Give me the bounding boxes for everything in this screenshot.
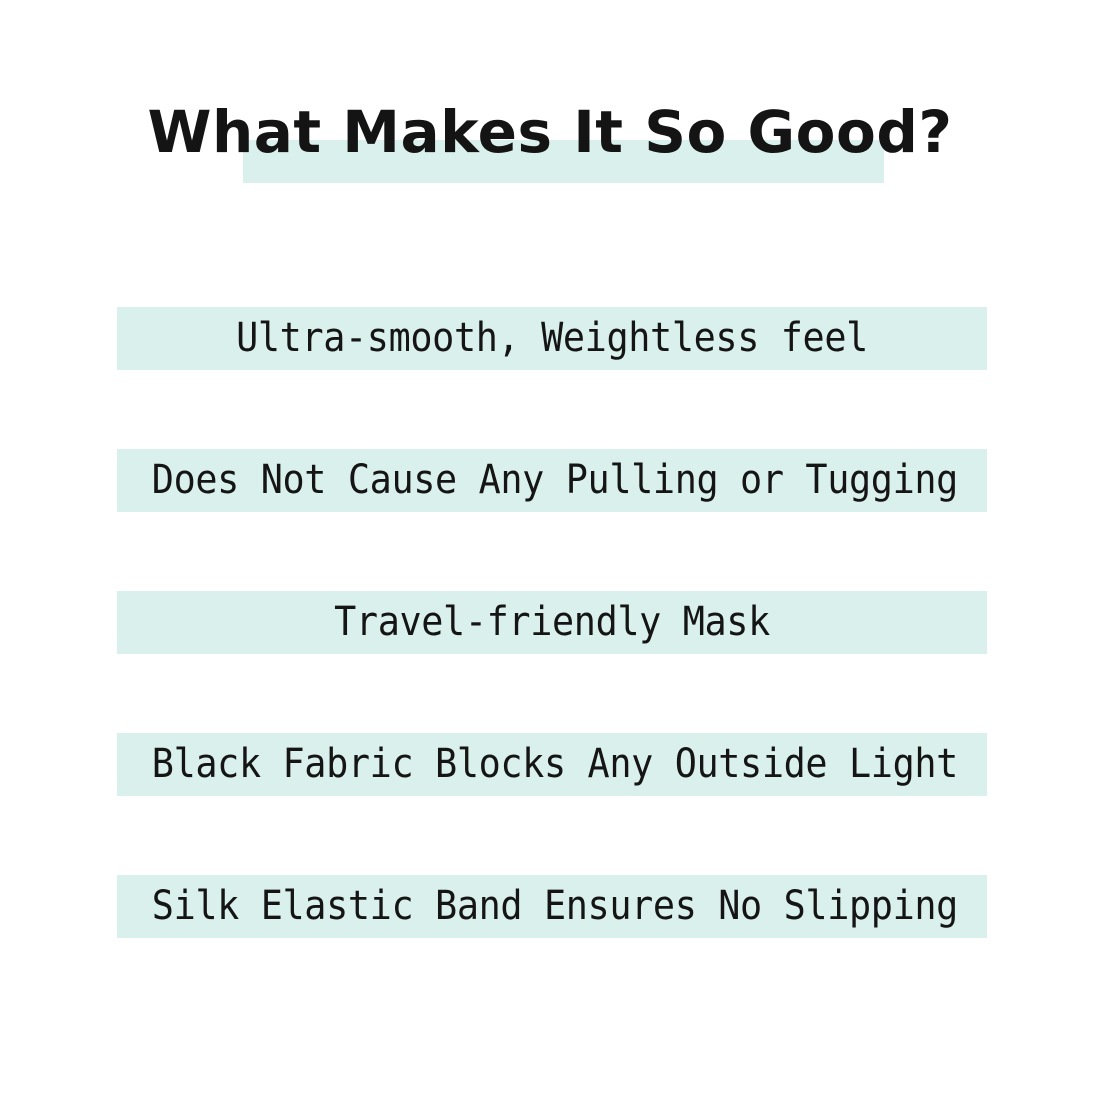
feature-item-3: Travel-friendly Mask bbox=[117, 591, 987, 654]
feature-list: Ultra-smooth, Weightless feel Does Not C… bbox=[0, 0, 1100, 1100]
feature-item-1: Ultra-smooth, Weightless feel bbox=[117, 307, 987, 370]
product-benefits-infographic: What Makes It So Good? Ultra-smooth, Wei… bbox=[0, 0, 1100, 1100]
feature-label: Black Fabric Blocks Any Outside Light bbox=[152, 725, 952, 804]
feature-label: Ultra-smooth, Weightless feel bbox=[152, 299, 952, 378]
feature-item-2: Does Not Cause Any Pulling or Tugging bbox=[117, 449, 987, 512]
feature-label: Silk Elastic Band Ensures No Slipping bbox=[152, 867, 952, 946]
feature-label: Does Not Cause Any Pulling or Tugging bbox=[152, 441, 952, 520]
feature-item-5: Silk Elastic Band Ensures No Slipping bbox=[117, 875, 987, 938]
feature-item-4: Black Fabric Blocks Any Outside Light bbox=[117, 733, 987, 796]
feature-label: Travel-friendly Mask bbox=[152, 583, 952, 662]
